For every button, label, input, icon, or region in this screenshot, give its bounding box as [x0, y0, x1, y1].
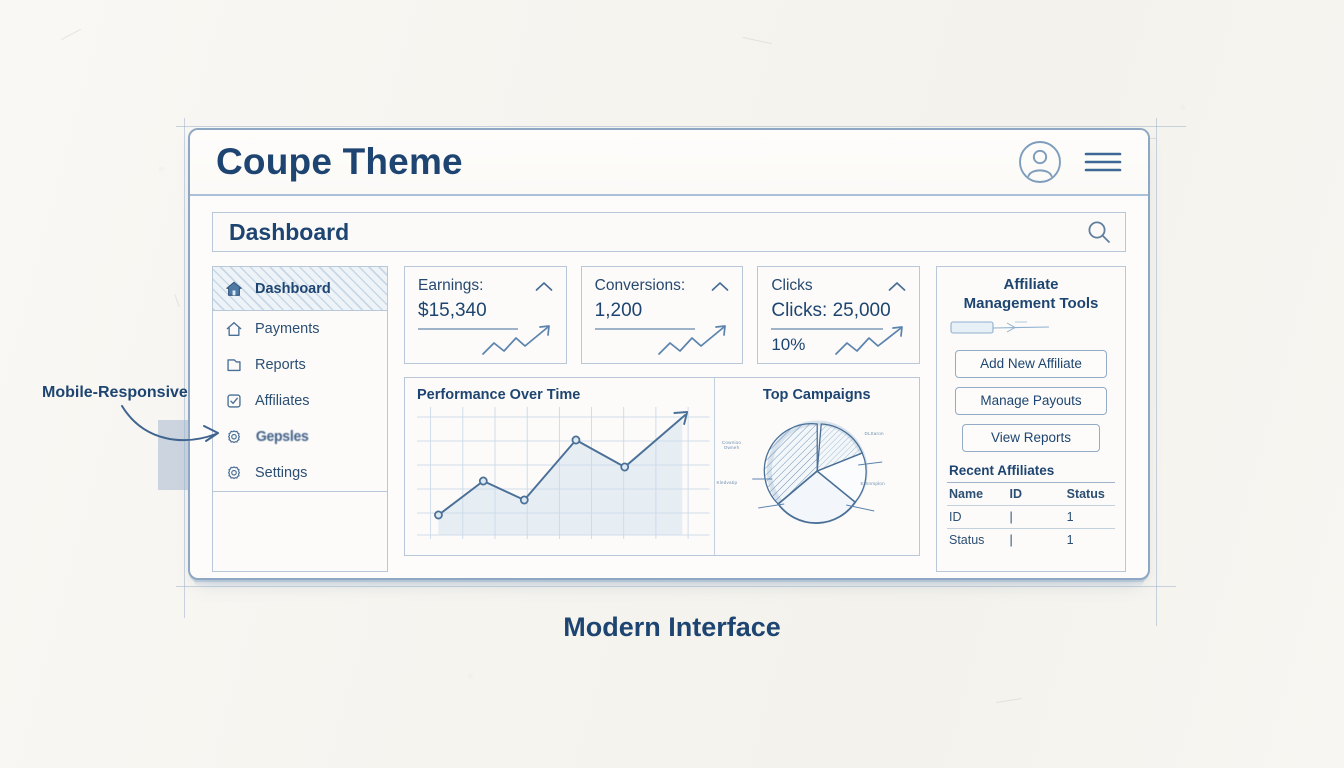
recent-affiliates-title: Recent Affiliates [949, 463, 1115, 478]
user-avatar-icon[interactable] [1018, 140, 1062, 184]
stat-label: Clicks [771, 277, 887, 295]
cell-status: 1 [1065, 528, 1115, 551]
tools-panel-title: Affiliate Management Tools [947, 276, 1115, 314]
column-header-name: Name [947, 482, 1008, 505]
chevron-up-icon[interactable] [534, 280, 554, 293]
cell-id: | [1008, 528, 1065, 551]
trend-up-sparkline [656, 322, 734, 358]
home-outline-icon [225, 320, 243, 338]
sidebar: Dashboard Payments Reports [212, 266, 388, 572]
tools-title-line2: Management Tools [964, 295, 1099, 312]
sidebar-item-label: Reports [255, 357, 306, 373]
performance-line-chart [417, 407, 710, 539]
sidebar-column: Dashboard Payments Reports [212, 266, 388, 572]
stat-label: Earnings: [418, 277, 534, 295]
cell-status: 1 [1065, 505, 1115, 528]
titlebar-actions [1018, 140, 1122, 184]
search-input[interactable]: Dashboard [229, 219, 1085, 246]
sidebar-nav: Dashboard Payments Reports [213, 267, 387, 492]
table-header-row: Name ID Status [947, 482, 1115, 505]
sidebar-item-settings[interactable]: Settings [213, 455, 387, 491]
search-row: Dashboard [190, 196, 1148, 252]
add-new-affiliate-button[interactable]: Add New Affiliate [955, 350, 1106, 378]
home-icon [225, 280, 243, 298]
guide-line-left [184, 118, 185, 618]
pie-label-left-top: Cownioo Owneh [718, 440, 746, 450]
stat-label: Conversions: [595, 277, 711, 295]
view-reports-button[interactable]: View Reports [962, 424, 1100, 452]
pie-label-left-bottom: Kledvatip [717, 480, 738, 485]
manage-payouts-button[interactable]: Manage Payouts [955, 387, 1106, 415]
app-window: Coupe Theme Dashboard [188, 128, 1150, 580]
stat-card-earnings[interactable]: Earnings: $15,340 [404, 266, 567, 364]
column-header-id: ID [1008, 482, 1065, 505]
table-row[interactable]: Status | 1 [947, 528, 1115, 551]
stat-value: 1,200 [595, 300, 731, 322]
sidebar-item-label: Gepsles [256, 429, 309, 445]
sidebar-item-label: Dashboard [255, 281, 331, 297]
cell-id: | [1008, 505, 1065, 528]
chevron-up-icon[interactable] [887, 280, 907, 293]
top-campaigns-pie-chart [721, 405, 913, 535]
gear-icon [225, 464, 243, 482]
sidebar-item-gepsles[interactable]: Gepsles [213, 419, 387, 455]
cell-name: Status [947, 528, 1008, 551]
guide-line-right [1156, 118, 1157, 626]
pie-chart-container: Top Campaigns [714, 378, 919, 555]
cell-name: ID [947, 505, 1008, 528]
column-header-status: Status [1065, 482, 1115, 505]
trend-up-sparkline [480, 322, 558, 358]
app-title: Coupe Theme [216, 141, 1018, 183]
stat-card-row: Earnings: $15,340 Conversions: [404, 266, 920, 364]
app-titlebar: Coupe Theme [190, 130, 1148, 196]
trend-up-sparkline [833, 324, 911, 358]
paper-fleck [996, 698, 1022, 703]
pie-label-right-bottom: E Snmplon [861, 481, 885, 486]
chart-area-fill [438, 417, 682, 535]
search-icon[interactable] [1085, 218, 1113, 246]
tools-column: Affiliate Management Tools Add New Affil… [936, 266, 1126, 572]
stat-value: $15,340 [418, 300, 554, 322]
sidebar-item-affiliates[interactable]: Affiliates [213, 383, 387, 419]
pie-chart-title: Top Campaigns [721, 387, 913, 403]
paper-fleck [174, 294, 180, 307]
line-chart-title: Performance Over Time [417, 387, 710, 403]
paper-fleck [61, 29, 81, 40]
hamburger-menu-icon[interactable] [1084, 149, 1122, 175]
pie-label-right-top: DLttaron [865, 431, 884, 436]
sketch-underline-decoration [949, 318, 1057, 338]
sidebar-item-label: Payments [255, 321, 319, 337]
line-chart-container: Performance Over Time [405, 378, 714, 555]
stat-value: Clicks: 25,000 [771, 300, 907, 322]
window-content: Dashboard Payments Reports [190, 252, 1148, 590]
charts-panel: Performance Over Time [404, 377, 920, 556]
sidebar-item-payments[interactable]: Payments [213, 311, 387, 347]
chevron-up-icon[interactable] [710, 280, 730, 293]
recent-affiliates-table: Name ID Status ID | 1 Status [947, 482, 1115, 551]
sidebar-item-reports[interactable]: Reports [213, 347, 387, 383]
sidebar-item-dashboard[interactable]: Dashboard [213, 267, 387, 311]
affiliate-management-tools-panel: Affiliate Management Tools Add New Affil… [936, 266, 1126, 572]
tools-title-line1: Affiliate [1003, 276, 1058, 293]
sidebar-item-label: Affiliates [255, 393, 310, 409]
stat-card-clicks[interactable]: Clicks Clicks: 25,000 10% [757, 266, 920, 364]
annotation-arrow [118, 398, 228, 450]
folder-icon [225, 356, 243, 374]
sidebar-item-label: Settings [255, 465, 307, 481]
guide-line-top [176, 126, 1186, 127]
paper-fleck [742, 37, 772, 44]
main-column: Earnings: $15,340 Conversions: [404, 266, 920, 572]
table-row[interactable]: ID | 1 [947, 505, 1115, 528]
caption-modern-interface: Modern Interface [0, 612, 1344, 643]
stat-card-conversions[interactable]: Conversions: 1,200 [581, 266, 744, 364]
search-bar[interactable]: Dashboard [212, 212, 1126, 252]
